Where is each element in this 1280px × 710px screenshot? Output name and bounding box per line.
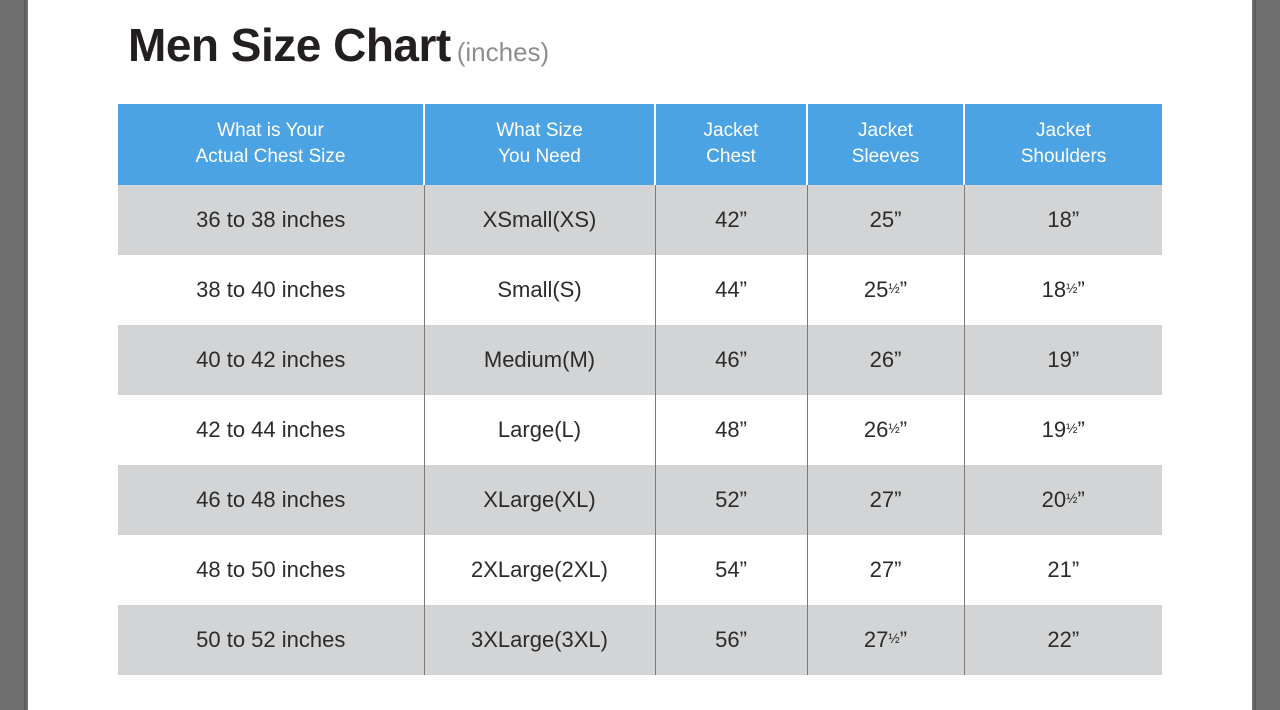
cell-chest-range: 36 to 38 inches [118, 185, 424, 255]
cell-chest-range: 50 to 52 inches [118, 605, 424, 675]
page-title: Men Size Chart(inches) [128, 18, 549, 72]
left-letterbox-bar [0, 0, 28, 710]
table-row: 46 to 48 inchesXLarge(XL)52”27”20½” [118, 465, 1162, 535]
half-fraction-glyph: ½ [1066, 281, 1077, 296]
cell-jacket-chest: 48” [655, 395, 807, 465]
column-header-line1: What Size [496, 120, 583, 141]
right-bar-seam [1254, 0, 1256, 710]
cell-jacket-chest: 56” [655, 605, 807, 675]
cell-jacket-chest: 42” [655, 185, 807, 255]
column-header-size-you-need: What Size You Need [424, 104, 655, 185]
table-row: 38 to 40 inchesSmall(S)44”25½”18½” [118, 255, 1162, 325]
cell-jacket-sleeves: 27” [807, 465, 964, 535]
cell-jacket-sleeves: 26½” [807, 395, 964, 465]
half-fraction-glyph: ½ [1066, 421, 1077, 436]
page-title-main: Men Size Chart [128, 19, 451, 71]
right-letterbox-bar [1252, 0, 1280, 710]
column-header-line1: What is Your [217, 120, 324, 141]
half-fraction-glyph: ½ [888, 421, 899, 436]
column-header-line1: Jacket [858, 120, 913, 141]
cell-chest-range: 38 to 40 inches [118, 255, 424, 325]
column-header-line2: Chest [660, 144, 802, 170]
table-row: 42 to 44 inchesLarge(L)48”26½”19½” [118, 395, 1162, 465]
column-header-line2: Sleeves [812, 144, 959, 170]
cell-size-label: XLarge(XL) [424, 465, 655, 535]
table-row: 48 to 50 inches2XLarge(2XL)54”27”21” [118, 535, 1162, 605]
cell-jacket-shoulders: 21” [964, 535, 1162, 605]
cell-jacket-sleeves: 27½” [807, 605, 964, 675]
cell-chest-range: 40 to 42 inches [118, 325, 424, 395]
slide-canvas: Men Size Chart(inches) What is Your Actu… [30, 0, 1250, 710]
column-header-jacket-sleeves: Jacket Sleeves [807, 104, 964, 185]
cell-jacket-shoulders: 19½” [964, 395, 1162, 465]
table-row: 36 to 38 inchesXSmall(XS)42”25”18” [118, 185, 1162, 255]
half-fraction-glyph: ½ [1066, 491, 1077, 506]
half-fraction-glyph: ½ [888, 631, 899, 646]
column-header-line2: You Need [429, 144, 650, 170]
cell-chest-range: 46 to 48 inches [118, 465, 424, 535]
column-header-line1: Jacket [1036, 120, 1091, 141]
column-header-jacket-chest: Jacket Chest [655, 104, 807, 185]
cell-jacket-sleeves: 25½” [807, 255, 964, 325]
cell-size-label: 2XLarge(2XL) [424, 535, 655, 605]
cell-size-label: XSmall(XS) [424, 185, 655, 255]
column-header-actual-chest-size: What is Your Actual Chest Size [118, 104, 424, 185]
cell-size-label: 3XLarge(3XL) [424, 605, 655, 675]
cell-jacket-shoulders: 18½” [964, 255, 1162, 325]
cell-size-label: Small(S) [424, 255, 655, 325]
cell-size-label: Medium(M) [424, 325, 655, 395]
cell-chest-range: 42 to 44 inches [118, 395, 424, 465]
table-header-row: What is Your Actual Chest Size What Size… [118, 104, 1162, 185]
column-header-line1: Jacket [704, 120, 759, 141]
page-title-units: (inches) [457, 37, 549, 67]
cell-jacket-chest: 46” [655, 325, 807, 395]
column-header-line2: Actual Chest Size [122, 144, 419, 170]
cell-jacket-sleeves: 25” [807, 185, 964, 255]
table-row: 50 to 52 inches3XLarge(3XL)56”27½”22” [118, 605, 1162, 675]
cell-size-label: Large(L) [424, 395, 655, 465]
cell-chest-range: 48 to 50 inches [118, 535, 424, 605]
size-chart-table: What is Your Actual Chest Size What Size… [118, 104, 1162, 675]
half-fraction-glyph: ½ [888, 281, 899, 296]
column-header-jacket-shoulders: Jacket Shoulders [964, 104, 1162, 185]
table-row: 40 to 42 inchesMedium(M)46”26”19” [118, 325, 1162, 395]
table-header: What is Your Actual Chest Size What Size… [118, 104, 1162, 185]
cell-jacket-sleeves: 27” [807, 535, 964, 605]
cell-jacket-shoulders: 22” [964, 605, 1162, 675]
cell-jacket-chest: 44” [655, 255, 807, 325]
left-bar-seam [24, 0, 26, 710]
cell-jacket-shoulders: 19” [964, 325, 1162, 395]
column-header-line2: Shoulders [969, 144, 1158, 170]
cell-jacket-chest: 52” [655, 465, 807, 535]
cell-jacket-shoulders: 20½” [964, 465, 1162, 535]
cell-jacket-sleeves: 26” [807, 325, 964, 395]
cell-jacket-shoulders: 18” [964, 185, 1162, 255]
table-body: 36 to 38 inchesXSmall(XS)42”25”18”38 to … [118, 185, 1162, 675]
cell-jacket-chest: 54” [655, 535, 807, 605]
